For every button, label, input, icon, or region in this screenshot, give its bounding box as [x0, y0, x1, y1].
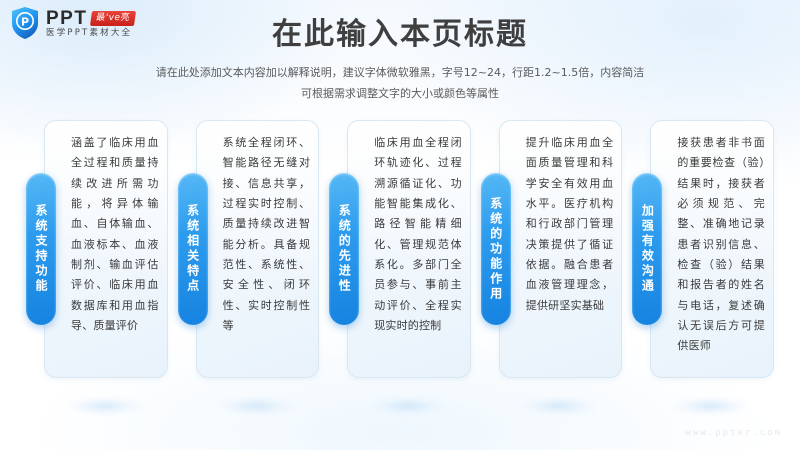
card-label-pill[interactable]: 系统相关特点: [178, 173, 208, 325]
card-body-text: 涵盖了临床用血全过程和质量持续改进所需功能，将异体输血、自体输血、血液标本、血液…: [71, 133, 159, 336]
logo-brand-text: PPT: [46, 9, 87, 28]
card-glow: [218, 398, 296, 414]
card-label-pill[interactable]: 系统支持功能: [26, 173, 56, 325]
svg-text:P: P: [21, 15, 29, 28]
card-panel: 接获患者非书面的重要检查（验）结果时，接获者必须规范、完整、准确地记录患者识别信…: [650, 120, 774, 378]
card-body-text: 接获患者非书面的重要检查（验）结果时，接获者必须规范、完整、准确地记录患者识别信…: [677, 133, 765, 357]
card-panel: 系统全程闭环、智能路径无缝对接、信息共享，过程实时控制、质量持续改进智能分析。具…: [196, 120, 320, 378]
footer-watermark: www.ppter.com: [686, 428, 782, 438]
feature-card-1[interactable]: 涵盖了临床用血全过程和质量持续改进所需功能，将异体输血、自体输血、血液标本、血液…: [26, 120, 168, 378]
card-body-text: 临床用血全程闭环轨迹化、过程溯源循证化、功能智能集成化、路径智能精细化、管理规范…: [374, 133, 462, 336]
feature-card-row: 涵盖了临床用血全过程和质量持续改进所需功能，将异体输血、自体输血、血液标本、血液…: [26, 120, 774, 378]
shield-p-icon: P: [10, 6, 40, 40]
card-panel: 涵盖了临床用血全过程和质量持续改进所需功能，将异体输血、自体输血、血液标本、血液…: [44, 120, 168, 378]
card-glow: [369, 398, 447, 414]
card-body-text: 系统全程闭环、智能路径无缝对接、信息共享，过程实时控制、质量持续改进智能分析。具…: [223, 133, 311, 336]
card-body-text: 提升临床用血全面质量管理和科学安全有效用血水平。医疗机构和行政部门管理决策提供了…: [526, 133, 614, 316]
card-glow: [672, 398, 750, 414]
feature-card-4[interactable]: 提升临床用血全面质量管理和科学安全有效用血水平。医疗机构和行政部门管理决策提供了…: [481, 120, 623, 378]
feature-card-2[interactable]: 系统全程闭环、智能路径无缝对接、信息共享，过程实时控制、质量持续改进智能分析。具…: [178, 120, 320, 378]
card-label-text: 系统支持功能: [35, 204, 47, 294]
card-glow: [66, 398, 144, 414]
card-label-pill[interactable]: 加强有效沟通: [632, 173, 662, 325]
feature-card-5[interactable]: 接获患者非书面的重要检查（验）结果时，接获者必须规范、完整、准确地记录患者识别信…: [632, 120, 774, 378]
card-label-pill[interactable]: 系统的先进性: [329, 173, 359, 325]
card-label-text: 系统的先进性: [338, 204, 350, 294]
subtitle-line-2: 可根据需求调整文字的大小或颜色等属性: [0, 83, 800, 104]
card-label-text: 加强有效沟通: [641, 204, 653, 294]
card-panel: 临床用血全程闭环轨迹化、过程溯源循证化、功能智能集成化、路径智能精细化、管理规范…: [347, 120, 471, 378]
card-glow: [521, 398, 599, 414]
card-panel: 提升临床用血全面质量管理和科学安全有效用血水平。医疗机构和行政部门管理决策提供了…: [499, 120, 623, 378]
subtitle-line-1: 请在此处添加文本内容加以解释说明，建议字体微软雅黑，字号12~24，行距1.2~…: [0, 62, 800, 83]
card-label-text: 系统的功能作用: [490, 197, 502, 302]
logo-badge: 最've亮: [90, 11, 136, 26]
card-label-pill[interactable]: 系统的功能作用: [481, 173, 511, 325]
page-subtitle: 请在此处添加文本内容加以解释说明，建议字体微软雅黑，字号12~24，行距1.2~…: [0, 62, 800, 105]
brand-logo: P PPT 最've亮 医学PPT素材大全: [10, 6, 135, 40]
card-label-text: 系统相关特点: [187, 204, 199, 294]
feature-card-3[interactable]: 临床用血全程闭环轨迹化、过程溯源循证化、功能智能集成化、路径智能精细化、管理规范…: [329, 120, 471, 378]
logo-subtitle: 医学PPT素材大全: [46, 29, 135, 38]
